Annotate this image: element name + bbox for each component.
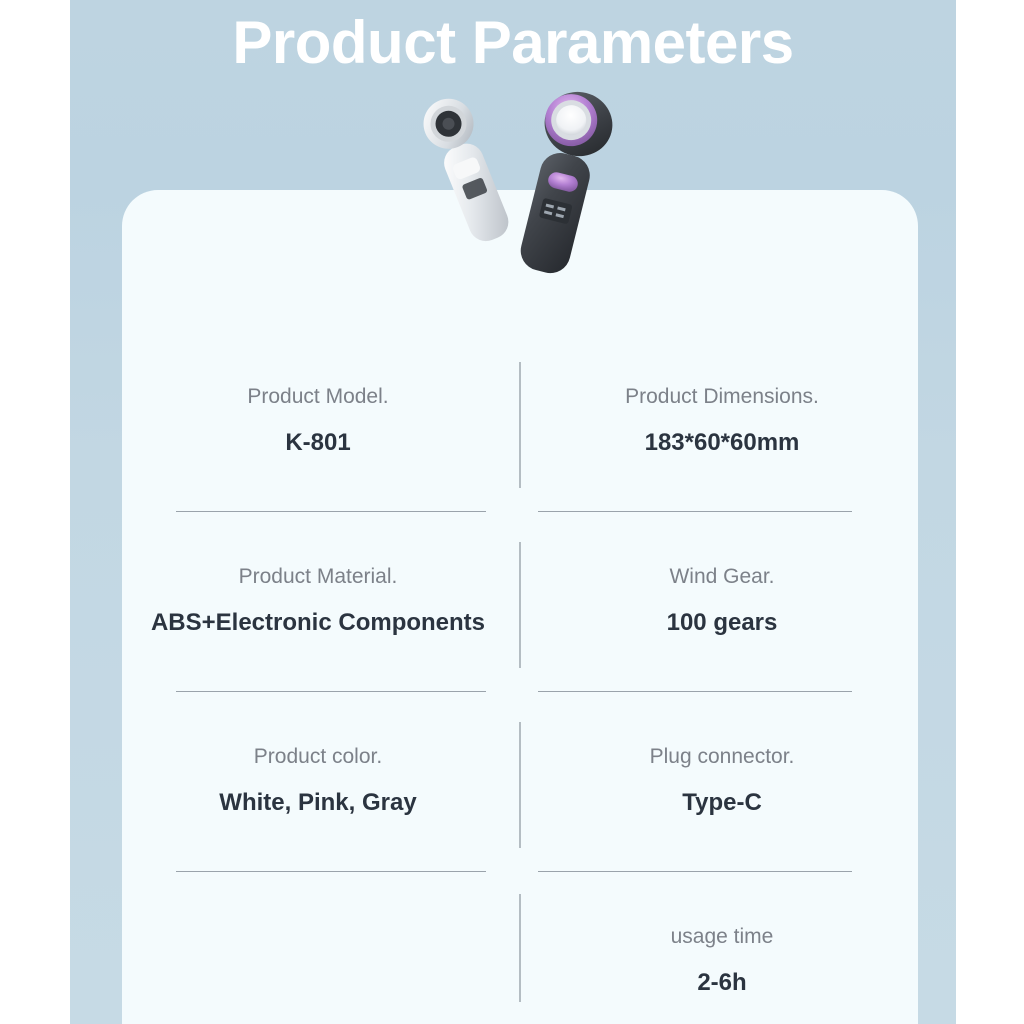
spec-label: Product color.	[254, 742, 382, 772]
spec-label: Product Model.	[247, 382, 388, 412]
spec-label: Product Material.	[239, 562, 398, 592]
spec-cell-product-color: Product color. White, Pink, Gray	[122, 710, 520, 890]
spec-cell-wind-gear: Wind Gear. 100 gears	[520, 530, 918, 710]
spec-cell-plug-connector: Plug connector. Type-C	[520, 710, 918, 890]
column-divider	[520, 542, 521, 668]
column-divider	[520, 722, 521, 848]
header-band: Product Parameters	[70, 0, 956, 190]
spec-label: usage time	[671, 922, 774, 952]
row-separator-right	[538, 511, 852, 512]
spec-row: Product Model. K-801 Product Dimensions.…	[122, 350, 918, 530]
spec-value: 183*60*60mm	[645, 427, 800, 459]
spec-cell-product-dimensions: Product Dimensions. 183*60*60mm	[520, 350, 918, 530]
row-separator-left	[176, 691, 486, 692]
spec-cell-product-model: Product Model. K-801	[122, 350, 520, 530]
spec-label: Wind Gear.	[669, 562, 774, 592]
row-separator-right	[538, 691, 852, 692]
column-divider	[520, 362, 521, 488]
spec-value: 2-6h	[697, 967, 746, 999]
product-parameters-page: Product Parameters	[0, 0, 1024, 1024]
row-separator-left	[176, 871, 486, 872]
column-divider	[520, 894, 521, 1002]
row-separator-left	[176, 511, 486, 512]
spec-value: ABS+Electronic Components	[151, 607, 485, 639]
spec-label: Product Dimensions.	[625, 382, 819, 412]
spec-row: Product color. White, Pink, Gray Plug co…	[122, 710, 918, 890]
spec-value: White, Pink, Gray	[219, 787, 416, 819]
spec-label: Plug connector.	[650, 742, 795, 772]
spec-row: usage time 2-6h	[122, 890, 918, 1010]
spec-row: Product Material. ABS+Electronic Compone…	[122, 530, 918, 710]
spec-value: K-801	[285, 427, 350, 459]
page-title: Product Parameters	[70, 6, 956, 80]
spec-value: Type-C	[682, 787, 762, 819]
specifications-grid: Product Model. K-801 Product Dimensions.…	[122, 350, 918, 1010]
spec-value: 100 gears	[667, 607, 778, 639]
spec-cell-product-material: Product Material. ABS+Electronic Compone…	[122, 530, 520, 710]
spec-cell-usage-time: usage time 2-6h	[520, 890, 918, 1010]
row-separator-right	[538, 871, 852, 872]
spec-cell-empty	[122, 890, 520, 1010]
